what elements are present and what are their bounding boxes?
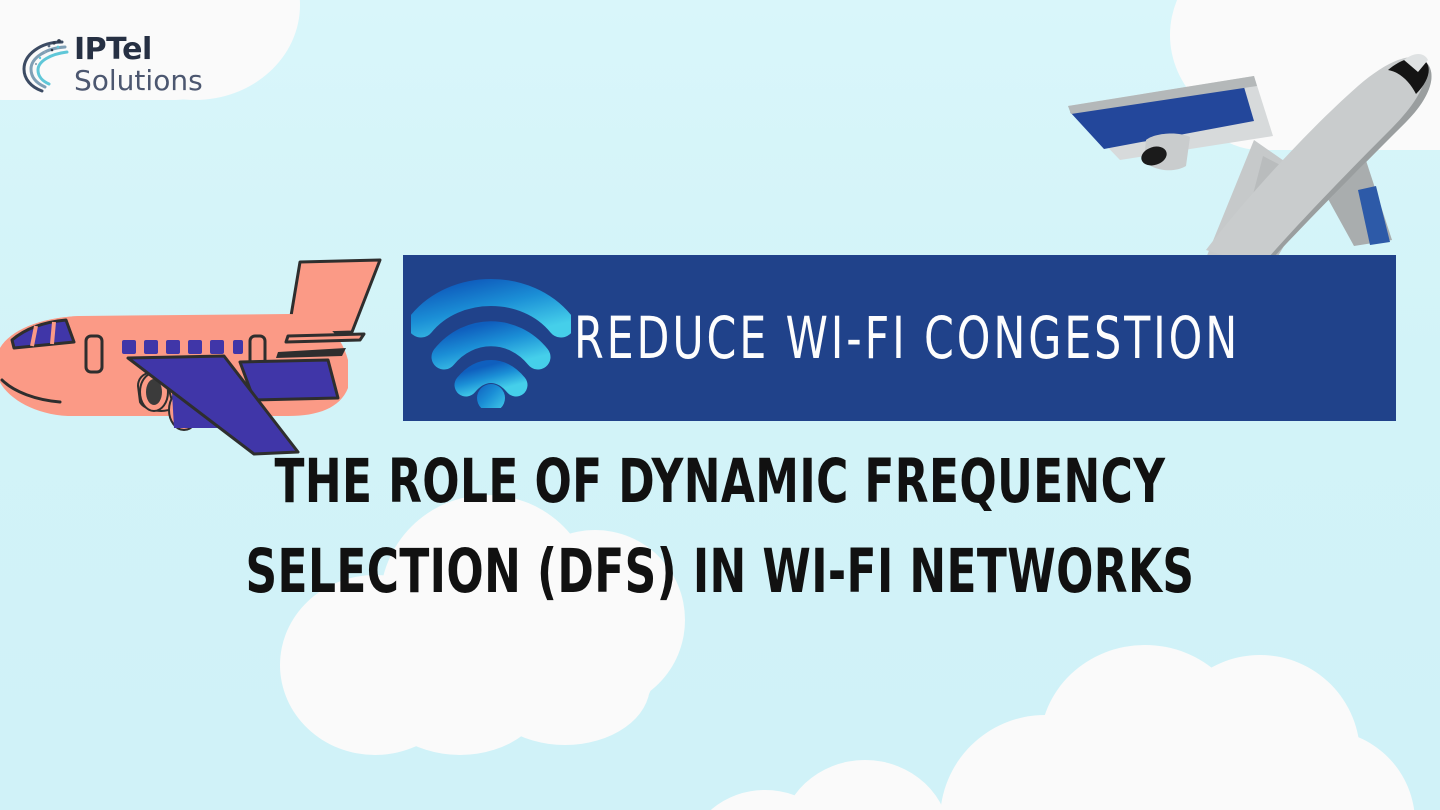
subtitle-block: THE ROLE OF DYNAMIC FREQUENCY SELECTION … bbox=[0, 437, 1440, 617]
cloud-bottom-right bbox=[940, 625, 1420, 810]
title-banner: REDUCE WI-FI CONGESTION bbox=[403, 255, 1396, 421]
logo-line-2: Solutions bbox=[74, 67, 203, 95]
subtitle-line-1: THE ROLE OF DYNAMIC FREQUENCY bbox=[144, 437, 1296, 527]
logo-wordmark: IPTel Solutions bbox=[74, 35, 203, 95]
logo-line-1: IPTel bbox=[74, 35, 203, 65]
grey-airliner-illustration bbox=[1058, 0, 1440, 280]
iptel-solutions-logo[interactable]: IPTel Solutions bbox=[18, 22, 208, 108]
swoosh-arc-icon bbox=[18, 33, 70, 97]
subtitle-line-2: SELECTION (DFS) IN WI-FI NETWORKS bbox=[144, 527, 1296, 617]
poster-canvas: REDUCE WI-FI CONGESTION THE ROLE OF DYNA… bbox=[0, 0, 1440, 810]
banner-title: REDUCE WI-FI CONGESTION bbox=[574, 309, 1240, 367]
wifi-signal-icon bbox=[403, 255, 578, 421]
